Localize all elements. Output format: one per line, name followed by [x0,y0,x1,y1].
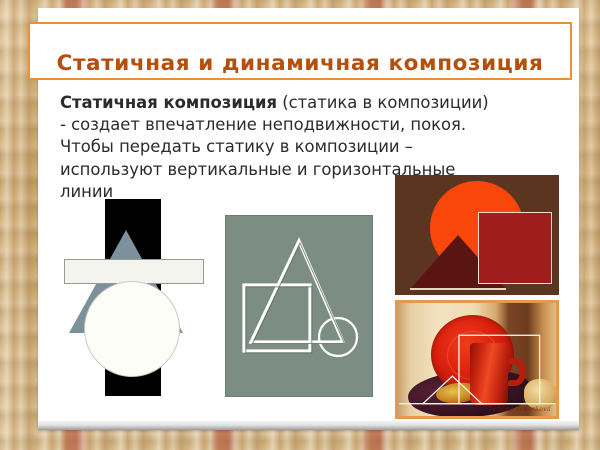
photo-signature: Tatiana Tcherkova [488,406,551,413]
figure-still-life-red-cup: Tatiana Tcherkova [395,300,559,419]
figure-black-column-circle-triangle [55,199,215,396]
white-circle [84,281,180,377]
body-line-1: Статичная композиция (статика в композиц… [60,92,560,114]
triangle-base-line [410,288,506,290]
slide-title-box: Статичная и динамичная композиция [28,22,572,80]
figure-brown-sun-square [395,175,559,295]
overlay-triangle [423,376,482,404]
body-line-2: - создает впечатление неподвижности, пок… [60,114,560,136]
sage-shapes-svg [226,216,372,396]
slide-bottom-edge [38,421,579,430]
slide-background: Статичная и динамичная композиция Статич… [0,0,600,450]
body-line-3: Чтобы передать статику в композиции – [60,136,560,158]
page-title: Статичная и динамичная композиция [57,51,544,76]
body-line-1-rest: (статика в композиции) [277,93,489,112]
dark-red-square [478,212,552,284]
figure-sage-outline-shapes [226,216,372,396]
outline-circle [319,318,357,356]
composition-overlay-svg [398,303,556,416]
outline-triangle [251,241,343,342]
body-lead-bold: Статичная композиция [60,93,277,112]
